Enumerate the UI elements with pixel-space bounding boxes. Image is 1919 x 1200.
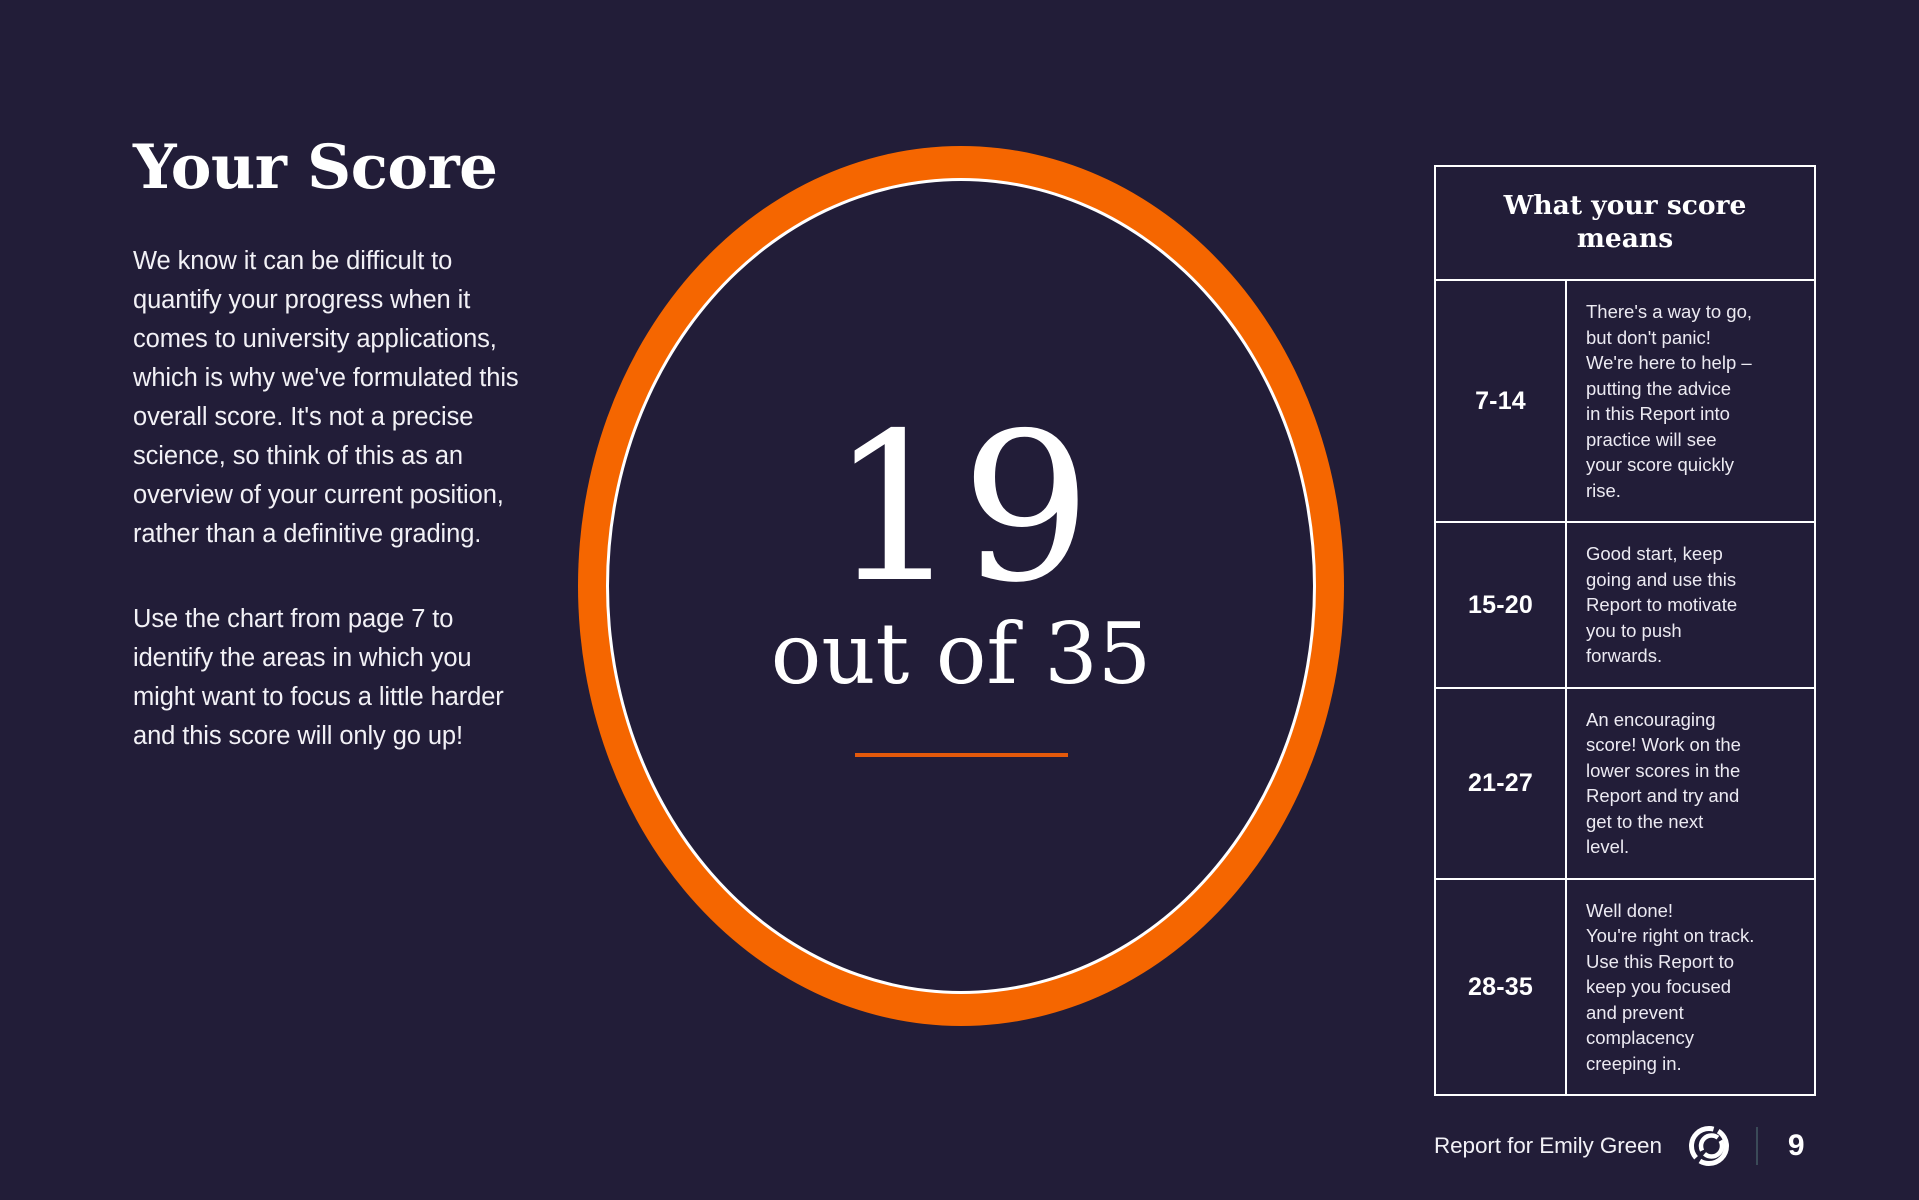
score-out-of-label: out of 35 bbox=[771, 610, 1151, 698]
intro-column: Your Score We know it can be difficult t… bbox=[133, 136, 523, 756]
footer-divider bbox=[1756, 1127, 1758, 1165]
score-range-cell: 28-35 bbox=[1436, 880, 1567, 1095]
intro-paragraph-2: Use the chart from page 7 to identify th… bbox=[133, 600, 523, 756]
slide-footer: Report for Emily Green 9 bbox=[1434, 1122, 1854, 1170]
table-row: 28-35 Well done! You're right on track. … bbox=[1436, 880, 1814, 1095]
ring-logo-icon bbox=[1688, 1125, 1730, 1167]
score-description-cell: Well done! You're right on track. Use th… bbox=[1567, 880, 1814, 1095]
intro-paragraph-1: We know it can be difficult to quantify … bbox=[133, 242, 523, 554]
score-description-cell: Good start, keep going and use this Repo… bbox=[1567, 523, 1814, 687]
page-title: Your Score bbox=[133, 136, 523, 200]
table-row: 7-14 There's a way to go, but don't pani… bbox=[1436, 281, 1814, 523]
score-value: 19 bbox=[830, 415, 1093, 604]
table-row: 15-20 Good start, keep going and use thi… bbox=[1436, 523, 1814, 689]
page-number: 9 bbox=[1788, 1129, 1805, 1163]
table-row: 21-27 An encouraging score! Work on the … bbox=[1436, 689, 1814, 880]
score-underline-rule bbox=[855, 753, 1068, 757]
score-range-cell: 7-14 bbox=[1436, 281, 1567, 521]
score-dial-content: 19 out of 35 bbox=[578, 146, 1344, 1026]
score-dial: 19 out of 35 bbox=[578, 146, 1344, 1026]
report-owner-label: Report for Emily Green bbox=[1434, 1133, 1662, 1159]
score-table-header: What your score means bbox=[1436, 167, 1814, 281]
score-meaning-table: What your score means 7-14 There's a way… bbox=[1434, 165, 1816, 1096]
score-range-cell: 21-27 bbox=[1436, 689, 1567, 878]
score-description-cell: There's a way to go, but don't panic! We… bbox=[1567, 281, 1814, 521]
score-range-cell: 15-20 bbox=[1436, 523, 1567, 687]
score-description-cell: An encouraging score! Work on the lower … bbox=[1567, 689, 1814, 878]
